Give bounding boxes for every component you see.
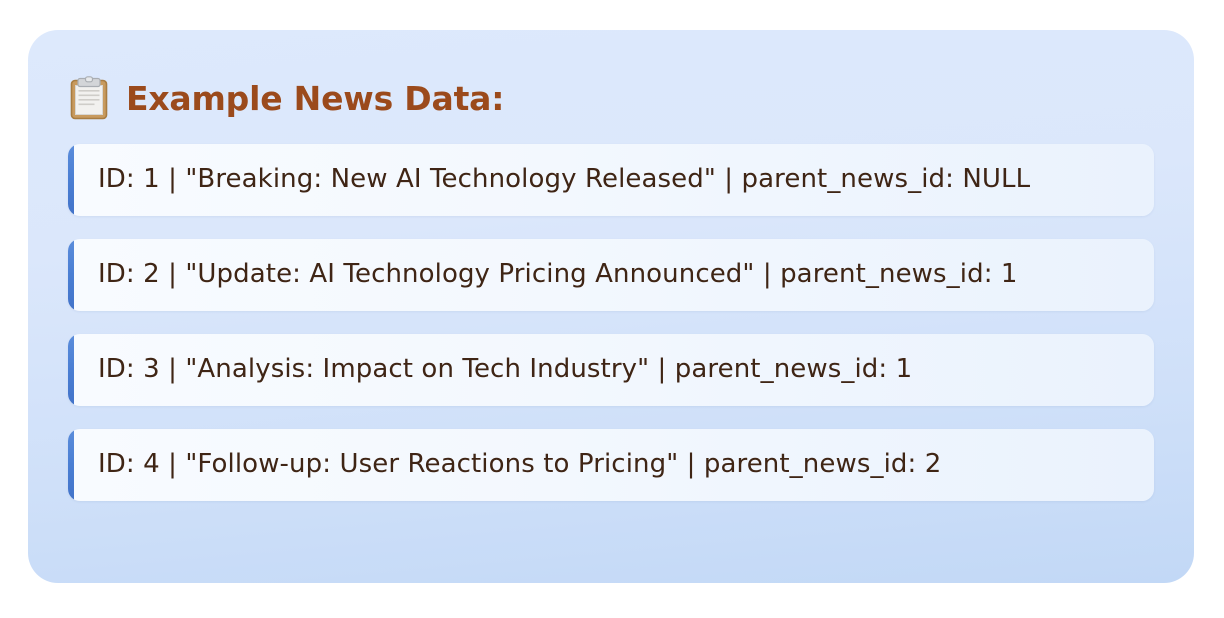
news-record-text: ID: 3 | "Analysis: Impact on Tech Indust…: [98, 354, 912, 385]
list-item[interactable]: ID: 4 | "Follow-up: User Reactions to Pr…: [68, 429, 1154, 501]
news-record-text: ID: 4 | "Follow-up: User Reactions to Pr…: [98, 449, 941, 480]
panel-header: Example News Data:: [70, 74, 1154, 122]
row-accent-bar: [68, 334, 74, 406]
clipboard-icon: [70, 76, 108, 120]
list-item[interactable]: ID: 2 | "Update: AI Technology Pricing A…: [68, 239, 1154, 311]
news-records-list: ID: 1 | "Breaking: New AI Technology Rel…: [68, 144, 1154, 501]
page-title: Example News Data:: [126, 82, 504, 115]
row-accent-bar: [68, 239, 74, 311]
list-item[interactable]: ID: 1 | "Breaking: New AI Technology Rel…: [68, 144, 1154, 216]
row-accent-bar: [68, 429, 74, 501]
row-accent-bar: [68, 144, 74, 216]
example-news-data-panel: Example News Data: ID: 1 | "Breaking: Ne…: [28, 30, 1194, 583]
news-record-text: ID: 1 | "Breaking: New AI Technology Rel…: [98, 164, 1030, 195]
list-item[interactable]: ID: 3 | "Analysis: Impact on Tech Indust…: [68, 334, 1154, 406]
news-record-text: ID: 2 | "Update: AI Technology Pricing A…: [98, 259, 1018, 290]
